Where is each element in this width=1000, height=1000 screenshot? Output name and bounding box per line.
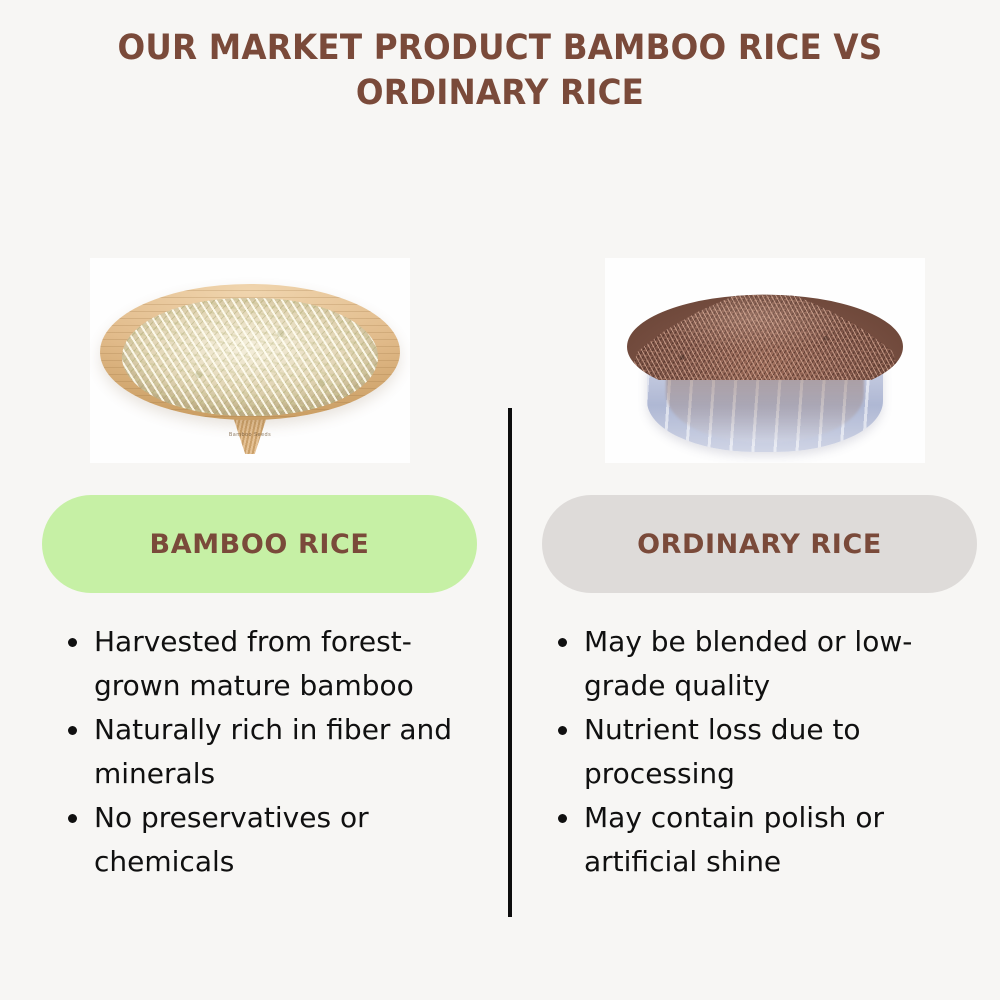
- bamboo-basket-illustration: Bamboo Seeds: [100, 266, 400, 456]
- bamboo-rice-photo: Bamboo Seeds: [90, 258, 410, 463]
- bullet-dot-icon: [558, 814, 567, 823]
- page-title: OUR MARKET PRODUCT BAMBOO RICE VS ORDINA…: [100, 26, 900, 116]
- bamboo-rice-benefits-list: Harvested from forest-grown mature bambo…: [62, 620, 472, 884]
- comparison-poster: OUR MARKET PRODUCT BAMBOO RICE VS ORDINA…: [0, 0, 1000, 1000]
- list-item: May contain polish or artificial shine: [552, 796, 962, 884]
- list-item-text: May be blended or low-grade quality: [584, 625, 912, 702]
- bullet-dot-icon: [68, 726, 77, 735]
- bullet-dot-icon: [68, 814, 77, 823]
- list-item: Nutrient loss due to processing: [552, 708, 962, 796]
- ordinary-rice-drawbacks-list: May be blended or low-grade quality Nutr…: [552, 620, 962, 884]
- ordinary-rice-badge: ORDINARY RICE: [542, 495, 977, 593]
- photo-watermark-caption: Bamboo Seeds: [229, 432, 271, 438]
- ordinary-rice-photo: [605, 258, 925, 463]
- list-item-text: Nutrient loss due to processing: [584, 713, 861, 790]
- vertical-divider: [508, 408, 512, 917]
- bamboo-rice-badge: BAMBOO RICE: [42, 495, 477, 593]
- ordinary-rice-grains: [627, 276, 903, 380]
- bullet-dot-icon: [558, 638, 567, 647]
- basket-body: [100, 284, 400, 420]
- rice-mound: [627, 276, 903, 380]
- bamboo-rice-grains: [122, 298, 378, 416]
- list-item-text: May contain polish or artificial shine: [584, 801, 884, 878]
- list-item-text: Naturally rich in fiber and minerals: [94, 713, 452, 790]
- glass-bowl-illustration: [619, 270, 911, 456]
- list-item-text: No preservatives or chemicals: [94, 801, 369, 878]
- list-item: Naturally rich in fiber and minerals: [62, 708, 472, 796]
- bamboo-rice-badge-label: BAMBOO RICE: [150, 529, 370, 560]
- list-item-text: Harvested from forest-grown mature bambo…: [94, 625, 414, 702]
- bullet-dot-icon: [68, 638, 77, 647]
- ordinary-rice-badge-label: ORDINARY RICE: [637, 529, 882, 560]
- list-item: Harvested from forest-grown mature bambo…: [62, 620, 472, 708]
- list-item: No preservatives or chemicals: [62, 796, 472, 884]
- bullet-dot-icon: [558, 726, 567, 735]
- list-item: May be blended or low-grade quality: [552, 620, 962, 708]
